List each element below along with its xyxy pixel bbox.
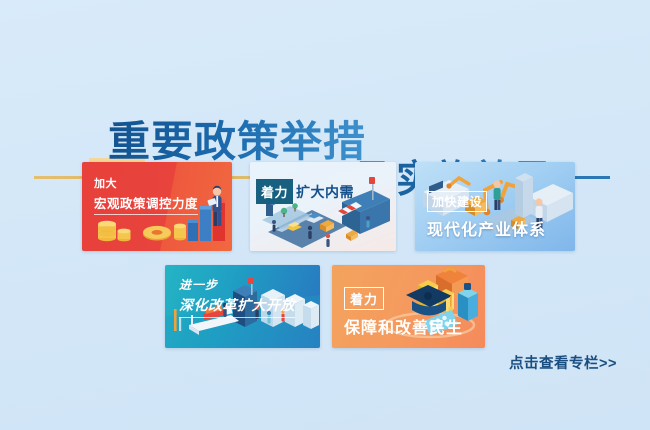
card-4-label: 进一步 深化改革扩大开放 (179, 276, 295, 318)
policy-card-macro-regulation[interactable]: 加大 宏观政策调控力度 (82, 162, 232, 251)
policy-card-improve-livelihood[interactable]: 着力 保障和改善民生 (332, 265, 485, 348)
card-4-main-label: 深化改革扩大开放 (179, 295, 295, 315)
card-1-main-label: 宏观政策调控力度 (94, 193, 198, 212)
page-title-line1: 重要政策举措 (108, 118, 366, 166)
card-4-top-label: 进一步 (179, 276, 295, 293)
card-2-label: 着力 扩大内需 (256, 179, 354, 204)
policy-card-reform-opening[interactable]: 进一步 深化改革扩大开放 (165, 265, 320, 348)
policy-banner: 重要政策举措 及实施效果 (0, 0, 650, 430)
view-column-link[interactable]: 点击查看专栏>> (509, 352, 617, 373)
policy-card-modern-industry[interactable]: 加快建设 现代化产业体系 (415, 162, 575, 251)
card-3-label: 加快建设 现代化产业体系 (427, 191, 546, 240)
card-5-main-label: 保障和改善民生 (344, 314, 463, 338)
card-1-top-label: 加大 (94, 175, 198, 191)
card-4-underline (179, 317, 295, 318)
isometric-city-retail-icon (250, 162, 396, 251)
card-2-top-label: 着力 (256, 179, 293, 204)
card-1-underline (94, 214, 198, 215)
card-1-label: 加大 宏观政策调控力度 (94, 175, 198, 215)
card-3-top-label: 加快建设 (427, 191, 487, 212)
card-3-main-label: 现代化产业体系 (427, 216, 546, 240)
card-2-main-label: 扩大内需 (293, 182, 354, 202)
card-5-label: 着力 保障和改善民生 (344, 287, 463, 338)
card-5-top-label: 着力 (344, 287, 384, 310)
banner-title-block: 重要政策举措 及实施效果 (0, 58, 650, 148)
card-2-illustration (250, 162, 396, 251)
policy-card-expand-demand[interactable]: 着力 扩大内需 (250, 162, 396, 251)
